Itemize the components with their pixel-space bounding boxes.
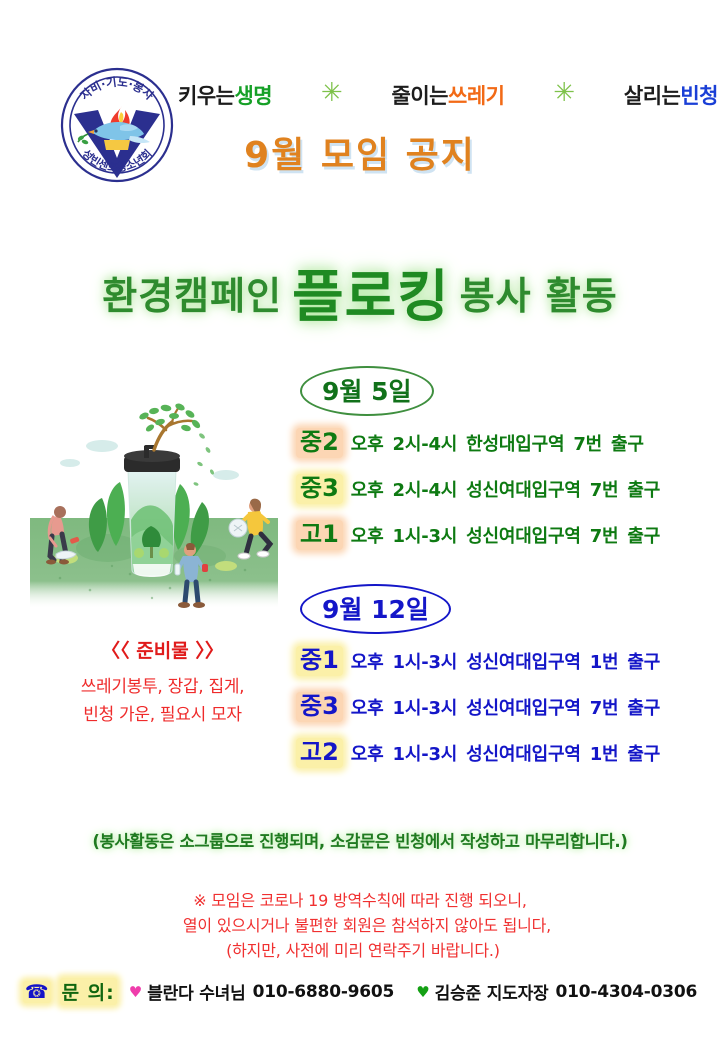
time-prefix: 오후 xyxy=(351,434,384,455)
exit-word: 출구 xyxy=(627,698,660,719)
exit-number: 1번 xyxy=(590,744,619,765)
flower-icon: ✳ xyxy=(321,80,343,106)
campaign-title: 환경캠페인플로킹봉사 활동 xyxy=(0,252,720,333)
main-notice-heading: 9월 모임 공지 xyxy=(0,126,720,178)
exit-number: 7번 xyxy=(590,526,619,547)
schedule-row-text: 오후2시-4시한성대입구역7번출구 xyxy=(351,430,644,456)
poster-root: 자비·기도·봉사 성빈센트청소년회 키우는생명 ✳ 줄이는쓰레기 ✳ 살리는빈청 xyxy=(0,0,720,1040)
tagline-3-accent: 빈청 xyxy=(680,84,718,108)
exit-word: 출구 xyxy=(627,526,660,547)
exit-word: 출구 xyxy=(627,480,660,501)
date-label-sept5: 9월 5일 xyxy=(300,366,434,416)
schedule-row-text: 오후1시-3시성신여대입구역1번출구 xyxy=(351,648,660,674)
preparation-line-1: 쓰레기봉투, 장갑, 집게, xyxy=(30,673,295,701)
time-range: 2시-4시 xyxy=(393,434,458,455)
grade-badge: 고2 xyxy=(296,738,343,768)
tagline-item-1: 키우는생명 xyxy=(178,80,272,110)
schedule-row-text: 오후1시-3시성신여대입구역7번출구 xyxy=(351,522,660,548)
covid-notice-line-1: ※ 모임은 코로나 19 방역수칙에 따라 진행 되오니, xyxy=(0,888,720,913)
time-range: 2시-4시 xyxy=(393,480,458,501)
contact-row: ☎ 문 의: ♥ 블란다 수녀님 010-6880-9605 ♥ 김승준 지도자… xyxy=(0,978,720,1005)
exit-number: 7번 xyxy=(590,698,619,719)
schedule-row: 중3 오후1시-3시성신여대입구역7번출구 xyxy=(296,684,706,730)
tagline-1-dark: 키우는 xyxy=(178,84,234,108)
schedule-row: 중1 오후1시-3시성신여대입구역1번출구 xyxy=(296,638,706,684)
covid-notice: ※ 모임은 코로나 19 방역수칙에 따라 진행 되오니, 열이 있으시거나 불… xyxy=(0,888,720,963)
campaign-title-middle: 플로킹 xyxy=(292,265,450,330)
contact-label: 문 의: xyxy=(60,978,117,1005)
campaign-title-right: 봉사 활동 xyxy=(460,274,618,318)
time-range: 1시-3시 xyxy=(393,652,458,673)
schedule-row: 중2 오후2시-4시한성대입구역7번출구 xyxy=(296,420,706,466)
meeting-place: 성신여대입구역 xyxy=(466,698,581,719)
schedule-row: 고2 오후1시-3시성신여대입구역1번출구 xyxy=(296,730,706,776)
preparation-section: 〈〈 준비물 〉〉 쓰레기봉투, 장갑, 집게, 빈청 가운, 필요시 모자 xyxy=(30,636,295,729)
poster-header: 자비·기도·봉사 성빈센트청소년회 키우는생명 ✳ 줄이는쓰레기 ✳ 살리는빈청 xyxy=(0,58,720,178)
schedule-row-text: 오후1시-3시성신여대입구역7번출구 xyxy=(351,694,660,720)
tagline-1-accent: 생명 xyxy=(234,84,272,108)
time-prefix: 오후 xyxy=(351,652,384,673)
schedule-section: 9월 5일 중2 오후2시-4시한성대입구역7번출구 중3 오후2시-4시성신여… xyxy=(296,366,706,790)
covid-notice-line-3: (하지만, 사전에 미리 연락주기 바랍니다.) xyxy=(0,938,720,963)
heart-icon: ♥ xyxy=(129,983,142,1001)
meeting-place: 한성대입구역 xyxy=(466,434,564,455)
campaign-title-left: 환경캠페인 xyxy=(102,274,282,318)
heart-icon: ♥ xyxy=(416,983,429,1001)
meeting-place: 성신여대입구역 xyxy=(466,480,581,501)
tagline-row: 키우는생명 ✳ 줄이는쓰레기 ✳ 살리는빈청 xyxy=(178,72,718,118)
contact-person-1-name: 블란다 수녀님 xyxy=(147,979,245,1004)
time-range: 1시-3시 xyxy=(393,698,458,719)
meeting-place: 성신여대입구역 xyxy=(466,526,581,547)
meeting-place: 성신여대입구역 xyxy=(466,744,581,765)
schedule-row-text: 오후1시-3시성신여대입구역1번출구 xyxy=(351,740,660,766)
exit-word: 출구 xyxy=(627,744,660,765)
time-prefix: 오후 xyxy=(351,744,384,765)
grade-badge: 중3 xyxy=(296,474,343,504)
preparation-line-2: 빈청 가운, 필요시 모자 xyxy=(30,701,295,729)
time-prefix: 오후 xyxy=(351,480,384,501)
exit-word: 출구 xyxy=(611,434,644,455)
tagline-3-dark: 살리는 xyxy=(624,84,680,108)
grade-badge: 중1 xyxy=(296,646,343,676)
schedule-row: 중3 오후2시-4시성신여대입구역7번출구 xyxy=(296,466,706,512)
eco-plogging-illustration xyxy=(30,398,295,633)
time-range: 1시-3시 xyxy=(393,744,458,765)
exit-word: 출구 xyxy=(627,652,660,673)
tagline-item-3: 살리는빈청 xyxy=(624,80,718,110)
schedule-row: 고1 오후1시-3시성신여대입구역7번출구 xyxy=(296,512,706,558)
flower-icon: ✳ xyxy=(553,80,575,106)
tagline-2-accent: 쓰레기 xyxy=(448,84,504,108)
meeting-place: 성신여대입구역 xyxy=(466,652,581,673)
grade-badge: 중3 xyxy=(296,692,343,722)
exit-number: 7번 xyxy=(573,434,602,455)
time-range: 1시-3시 xyxy=(393,526,458,547)
tagline-item-2: 줄이는쓰레기 xyxy=(392,80,505,110)
contact-person-1-phone[interactable]: 010-6880-9605 xyxy=(253,982,395,1002)
tagline-2-dark: 줄이는 xyxy=(392,84,448,108)
exit-number: 1번 xyxy=(590,652,619,673)
time-prefix: 오후 xyxy=(351,526,384,547)
date-label-sept12: 9월 12일 xyxy=(300,584,451,634)
contact-person-2-phone[interactable]: 010-4304-0306 xyxy=(555,982,697,1002)
telephone-icon: ☎ xyxy=(23,981,51,1003)
grade-badge: 고1 xyxy=(296,520,343,550)
covid-notice-line-2: 열이 있으시거나 불편한 회원은 참석하지 않아도 됩니다, xyxy=(0,913,720,938)
schedule-block-sept5: 9월 5일 중2 오후2시-4시한성대입구역7번출구 중3 오후2시-4시성신여… xyxy=(296,366,706,558)
schedule-block-sept12: 9월 12일 중1 오후1시-3시성신여대입구역1번출구 중3 오후1시-3시성… xyxy=(296,584,706,776)
grade-badge: 중2 xyxy=(296,428,343,458)
green-notice: (봉사활동은 소그룹으로 진행되며, 소감문은 빈청에서 작성하고 마무리합니다… xyxy=(0,828,720,852)
time-prefix: 오후 xyxy=(351,698,384,719)
exit-number: 7번 xyxy=(590,480,619,501)
preparation-heading: 〈〈 준비물 〉〉 xyxy=(30,636,295,663)
contact-person-2-name: 김승준 지도자장 xyxy=(435,979,549,1004)
schedule-row-text: 오후2시-4시성신여대입구역7번출구 xyxy=(351,476,660,502)
